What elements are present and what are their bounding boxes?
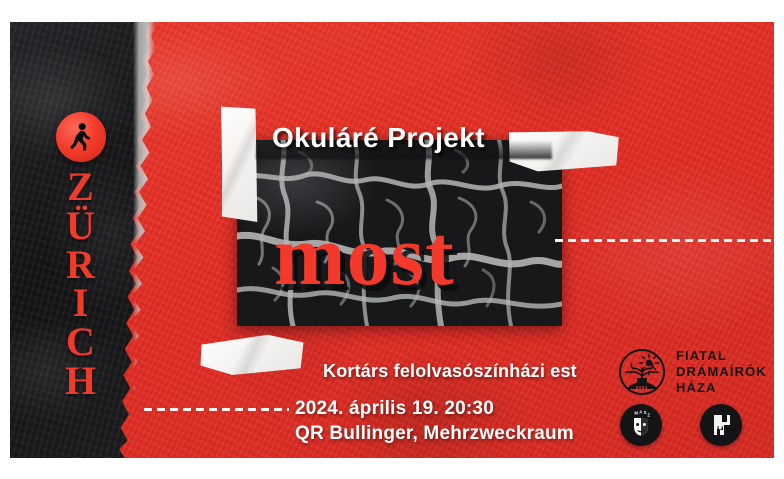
main-word: most bbox=[274, 212, 455, 298]
tape-strip-bottom-left bbox=[199, 331, 305, 376]
poster-subtitle: Kortárs felolvasószínházi est bbox=[323, 361, 577, 382]
monogram-badge-icon bbox=[700, 404, 742, 446]
zurich-letter: C bbox=[50, 323, 112, 362]
theatre-mask-badge-icon: M A S Z bbox=[620, 404, 662, 446]
zurich-letter: H bbox=[50, 362, 112, 401]
dashed-rule-left bbox=[144, 408, 289, 411]
svg-text:M: M bbox=[634, 411, 638, 416]
dashed-rule-right bbox=[555, 239, 774, 242]
zurich-letter: I bbox=[50, 284, 112, 323]
svg-text:A: A bbox=[639, 409, 642, 414]
sponsor-line: FIATAL bbox=[676, 348, 767, 364]
poster-title: Okuláré Projekt bbox=[272, 122, 485, 154]
event-venue: QR Bullinger, Mehrzweckraum bbox=[295, 421, 574, 446]
zurich-letter: Ü bbox=[50, 207, 112, 246]
zurich-letter: R bbox=[50, 246, 112, 285]
sponsor-primary-name: FIATAL DRÁMAÍRÓK HÁZA bbox=[676, 348, 767, 396]
tape-strip-left bbox=[215, 105, 260, 225]
fiatal-dramairok-haza-emblem-icon bbox=[618, 348, 666, 396]
sponsor-primary: FIATAL DRÁMAÍRÓK HÁZA bbox=[618, 348, 767, 396]
sponsor-badges: M A S Z bbox=[620, 404, 742, 446]
zurich-vertical-label: Z Ü R I C H bbox=[50, 168, 112, 401]
svg-text:S: S bbox=[644, 410, 647, 415]
event-details: 2024. április 19. 20:30 QR Bullinger, Me… bbox=[295, 396, 574, 447]
poster-canvas: Z Ü R I C H bbox=[10, 22, 774, 458]
sponsor-line: HÁZA bbox=[676, 380, 767, 396]
pedestrian-walking-icon bbox=[56, 112, 106, 162]
poster-root: Z Ü R I C H bbox=[0, 0, 784, 479]
event-date: 2024. április 19. 20:30 bbox=[295, 396, 574, 421]
sponsor-line: DRÁMAÍRÓK bbox=[676, 364, 767, 380]
zurich-letter: Z bbox=[50, 168, 112, 207]
svg-text:Z: Z bbox=[647, 412, 650, 417]
